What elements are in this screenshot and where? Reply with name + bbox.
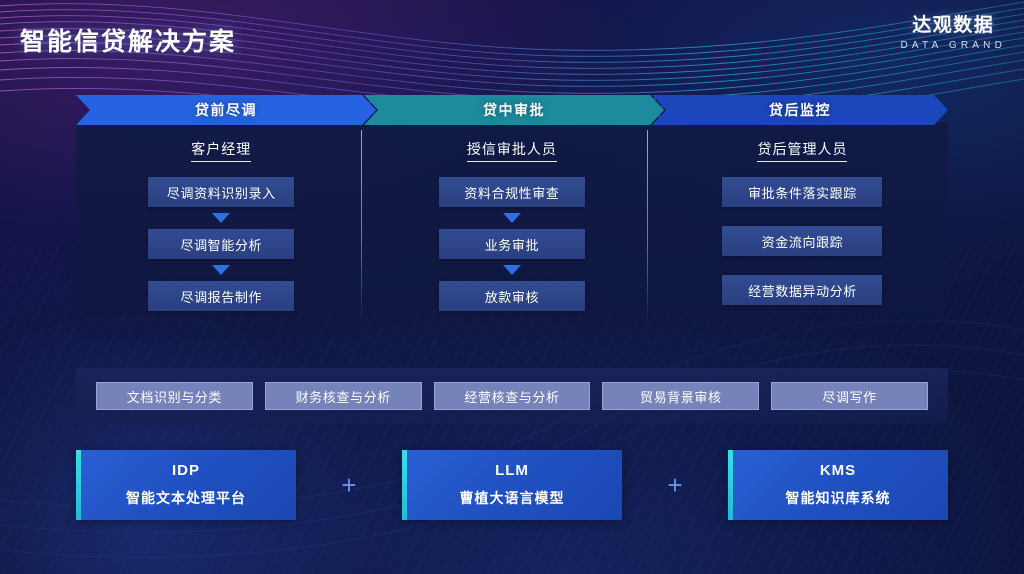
- stage-column-pre-loan: 客户经理 尽调资料识别录入 尽调智能分析 尽调报告制作: [76, 132, 367, 311]
- platform-name: 智能文本处理平台: [126, 488, 246, 508]
- platform-abbr: IDP: [172, 462, 200, 479]
- page-title: 智能信贷解决方案: [20, 22, 236, 58]
- step-item[interactable]: 尽调智能分析: [148, 229, 294, 259]
- logo-text-cn: 达观数据: [900, 10, 1006, 37]
- platform-card-kms[interactable]: KMS 智能知识库系统: [728, 450, 948, 520]
- platform-card-idp[interactable]: IDP 智能文本处理平台: [76, 450, 296, 520]
- step-item[interactable]: 业务审批: [439, 229, 585, 259]
- capability-item[interactable]: 尽调写作: [771, 382, 928, 410]
- role-label-in-loan: 授信审批人员: [467, 139, 557, 162]
- stage-column-post-loan: 贷后管理人员 审批条件落实跟踪 资金流向跟踪 经营数据异动分析: [657, 132, 948, 311]
- step-item[interactable]: 资金流向跟踪: [722, 226, 882, 256]
- stage-banner-in-loan[interactable]: 贷中审批: [364, 95, 664, 125]
- platform-abbr: KMS: [820, 462, 856, 479]
- step-item[interactable]: 资料合规性审查: [439, 177, 585, 207]
- accent-bar: [76, 450, 81, 520]
- platform-name: 曹植大语言模型: [460, 488, 565, 508]
- platform-name: 智能知识库系统: [786, 488, 891, 508]
- capability-item[interactable]: 财务核查与分析: [265, 382, 422, 410]
- plus-icon: +: [296, 472, 402, 498]
- step-list-post-loan: 审批条件落实跟踪 资金流向跟踪 经营数据异动分析: [722, 177, 882, 305]
- role-label-pre-loan: 客户经理: [191, 139, 251, 162]
- arrow-down-icon: [503, 265, 521, 275]
- step-list-in-loan: 资料合规性审查 业务审批 放款审核: [439, 177, 585, 311]
- step-item[interactable]: 尽调报告制作: [148, 281, 294, 311]
- arrow-down-icon: [212, 213, 230, 223]
- arrow-down-icon: [212, 265, 230, 275]
- role-label-post-loan: 贷后管理人员: [757, 139, 847, 162]
- step-item[interactable]: 审批条件落实跟踪: [722, 177, 882, 207]
- capability-panel: 文档识别与分类 财务核查与分析 经营核查与分析 贸易背景审核 尽调写作: [76, 368, 948, 424]
- stage-banner-post-loan[interactable]: 贷后监控: [652, 95, 948, 125]
- logo-text-en: DATA GRAND: [900, 40, 1006, 51]
- step-item[interactable]: 放款审核: [439, 281, 585, 311]
- brand-logo: 达观数据 DATA GRAND: [900, 10, 1006, 51]
- platform-card-row: IDP 智能文本处理平台 + LLM 曹植大语言模型 + KMS 智能知识库系统: [76, 450, 948, 520]
- platform-card-llm[interactable]: LLM 曹植大语言模型: [402, 450, 622, 520]
- capability-item[interactable]: 经营核查与分析: [434, 382, 591, 410]
- background-glow: [0, 314, 400, 574]
- plus-icon: +: [622, 472, 728, 498]
- stage-column-in-loan: 授信审批人员 资料合规性审查 业务审批 放款审核: [367, 132, 658, 311]
- step-item[interactable]: 经营数据异动分析: [722, 275, 882, 305]
- stage-banner-pre-loan[interactable]: 贷前尽调: [76, 95, 376, 125]
- accent-bar: [402, 450, 407, 520]
- platform-abbr: LLM: [495, 462, 529, 479]
- capability-item[interactable]: 贸易背景审核: [602, 382, 759, 410]
- stage-banner-row: 贷前尽调 贷中审批 贷后监控: [76, 95, 948, 125]
- arrow-down-icon: [503, 213, 521, 223]
- stage-columns: 客户经理 尽调资料识别录入 尽调智能分析 尽调报告制作 授信审批人员 资料合规性…: [76, 132, 948, 311]
- step-list-pre-loan: 尽调资料识别录入 尽调智能分析 尽调报告制作: [148, 177, 294, 311]
- capability-item[interactable]: 文档识别与分类: [96, 382, 253, 410]
- accent-bar: [728, 450, 733, 520]
- slide-root: 智能信贷解决方案 达观数据 DATA GRAND 贷前尽调 贷中审批 贷后监控 …: [0, 0, 1024, 574]
- step-item[interactable]: 尽调资料识别录入: [148, 177, 294, 207]
